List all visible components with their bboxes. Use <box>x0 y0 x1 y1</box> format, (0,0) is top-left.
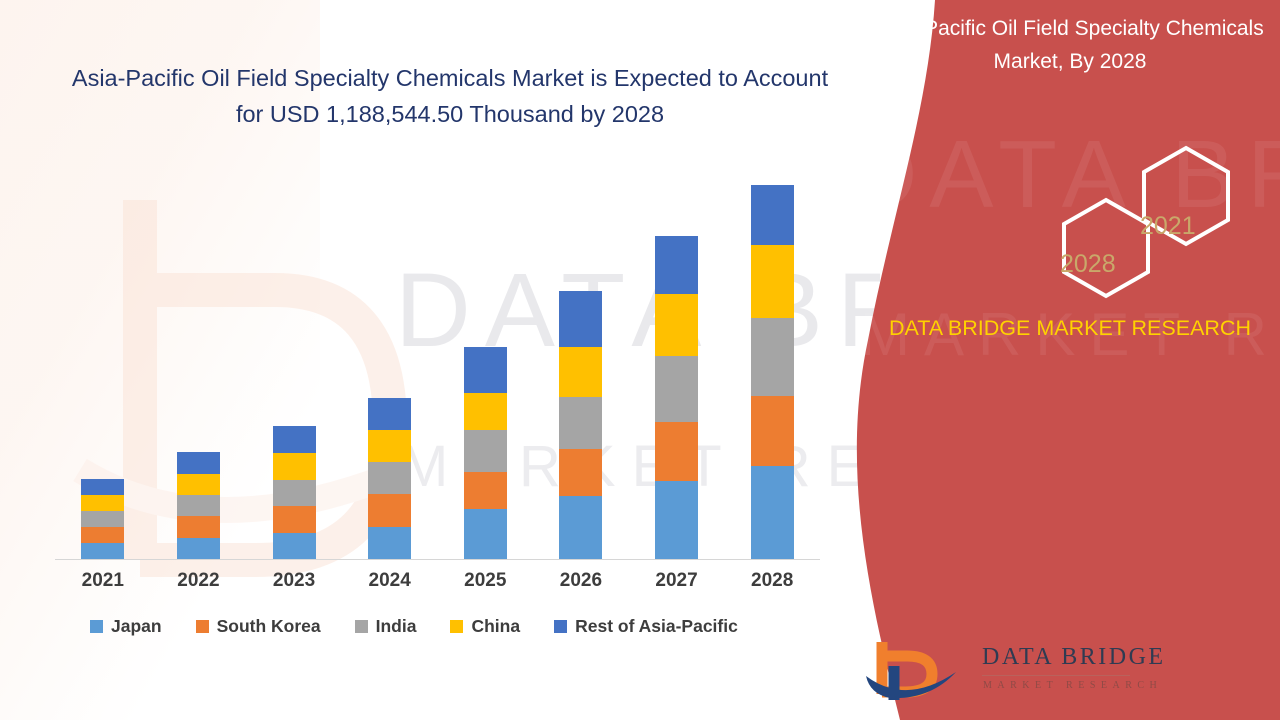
legend-swatch-icon <box>196 620 209 633</box>
legend-label: India <box>376 616 417 637</box>
x-axis-label-2025: 2025 <box>440 570 530 592</box>
panel-title: Asia-Pacific Oil Field Specialty Chemica… <box>870 12 1270 78</box>
bar-segment-rest-of-asia-pacific <box>177 452 220 474</box>
legend-label: Rest of Asia-Pacific <box>575 616 738 637</box>
legend-label: South Korea <box>217 616 321 637</box>
legend-item-rest-of-asia-pacific[interactable]: Rest of Asia-Pacific <box>554 616 738 637</box>
right-panel: DATA BRIDGE MARKET RESEARCH Asia-Pacific… <box>840 0 1280 720</box>
logo-subtitle: MARKET RESEARCH <box>983 680 1162 691</box>
bar-2025 <box>464 347 507 559</box>
bar-segment-india <box>177 495 220 516</box>
bar-segment-india <box>81 511 124 527</box>
bar-segment-india <box>655 356 698 421</box>
bar-segment-china <box>751 245 794 318</box>
bar-2028 <box>751 185 794 559</box>
hexagons-svg <box>940 140 1260 320</box>
hexagon-2028-label: 2028 <box>1060 250 1116 279</box>
bar-segment-japan <box>368 527 411 559</box>
bar-segment-rest-of-asia-pacific <box>655 236 698 294</box>
legend-item-china[interactable]: China <box>450 616 520 637</box>
legend-item-japan[interactable]: Japan <box>90 616 162 637</box>
legend-item-south-korea[interactable]: South Korea <box>196 616 321 637</box>
bar-segment-south-korea <box>368 494 411 527</box>
bar-segment-japan <box>177 538 220 559</box>
bar-segment-south-korea <box>464 472 507 509</box>
bar-segment-south-korea <box>81 527 124 543</box>
bar-2022 <box>177 452 220 559</box>
bar-segment-china <box>81 495 124 511</box>
bar-segment-rest-of-asia-pacific <box>273 426 316 453</box>
bar-segment-india <box>273 480 316 506</box>
bar-segment-japan <box>273 533 316 559</box>
bar-segment-south-korea <box>177 516 220 538</box>
bar-segment-rest-of-asia-pacific <box>464 347 507 392</box>
legend-label: Japan <box>111 616 162 637</box>
x-axis-label-2024: 2024 <box>345 570 435 592</box>
bar-segment-japan <box>559 496 602 559</box>
hexagon-2021-label: 2021 <box>1140 212 1196 241</box>
bar-segment-china <box>464 393 507 430</box>
bar-segment-india <box>464 430 507 472</box>
bar-segment-india <box>751 318 794 395</box>
x-axis-line <box>55 559 820 560</box>
logo-name: DATA BRIDGE <box>982 644 1166 671</box>
bar-segment-south-korea <box>273 506 316 533</box>
bar-segment-japan <box>464 509 507 559</box>
bar-2026 <box>559 291 602 559</box>
chart-legend: JapanSouth KoreaIndiaChinaRest of Asia-P… <box>90 616 772 637</box>
bar-segment-china <box>368 430 411 462</box>
bar-segment-india <box>368 462 411 494</box>
bar-segment-japan <box>751 466 794 559</box>
legend-swatch-icon <box>450 620 463 633</box>
logo-divider <box>982 675 1130 676</box>
bar-segment-rest-of-asia-pacific <box>559 291 602 347</box>
bar-segment-india <box>559 397 602 449</box>
bar-segment-rest-of-asia-pacific <box>751 185 794 245</box>
bar-2021 <box>81 479 124 559</box>
bar-segment-south-korea <box>655 422 698 481</box>
x-axis-label-2023: 2023 <box>249 570 339 592</box>
bar-2024 <box>368 398 411 559</box>
bar-segment-south-korea <box>559 449 602 496</box>
bar-segment-japan <box>655 481 698 559</box>
x-axis-label-2027: 2027 <box>632 570 722 592</box>
hexagon-2028-shape <box>1064 200 1148 296</box>
x-axis-label-2021: 2021 <box>58 570 148 592</box>
bar-2027 <box>655 236 698 559</box>
infographic-root: DATA BRIDGE MARKET RESEARCH Asia-Pacific… <box>0 0 1280 720</box>
x-axis-label-2022: 2022 <box>153 570 243 592</box>
bar-segment-rest-of-asia-pacific <box>368 398 411 430</box>
bar-segment-china <box>655 294 698 356</box>
bar-segment-japan <box>81 543 124 559</box>
x-axis-label-2026: 2026 <box>536 570 626 592</box>
bar-segment-rest-of-asia-pacific <box>81 479 124 495</box>
hexagon-group: 2021 2028 <box>940 140 1260 320</box>
right-panel-content: DATA BRIDGE MARKET RESEARCH Asia-Pacific… <box>840 0 1280 720</box>
bar-segment-south-korea <box>751 396 794 466</box>
legend-swatch-icon <box>554 620 567 633</box>
x-axis-label-2028: 2028 <box>727 570 817 592</box>
logo-b-monogram-icon <box>860 636 970 706</box>
company-logo: DATA BRIDGE MARKET RESEARCH <box>860 636 1260 708</box>
legend-item-india[interactable]: India <box>355 616 417 637</box>
bar-segment-china <box>177 474 220 495</box>
legend-label: China <box>471 616 520 637</box>
chart-title: Asia-Pacific Oil Field Specialty Chemica… <box>70 60 830 132</box>
x-axis-labels: 20212022202320242025202620272028 <box>55 570 820 602</box>
bar-2023 <box>273 426 316 559</box>
legend-swatch-icon <box>355 620 368 633</box>
bar-segment-china <box>273 453 316 480</box>
brand-name: DATA BRIDGE MARKET RESEARCH <box>870 312 1270 344</box>
legend-swatch-icon <box>90 620 103 633</box>
bar-segment-china <box>559 347 602 396</box>
chart-plot-area <box>55 160 820 560</box>
